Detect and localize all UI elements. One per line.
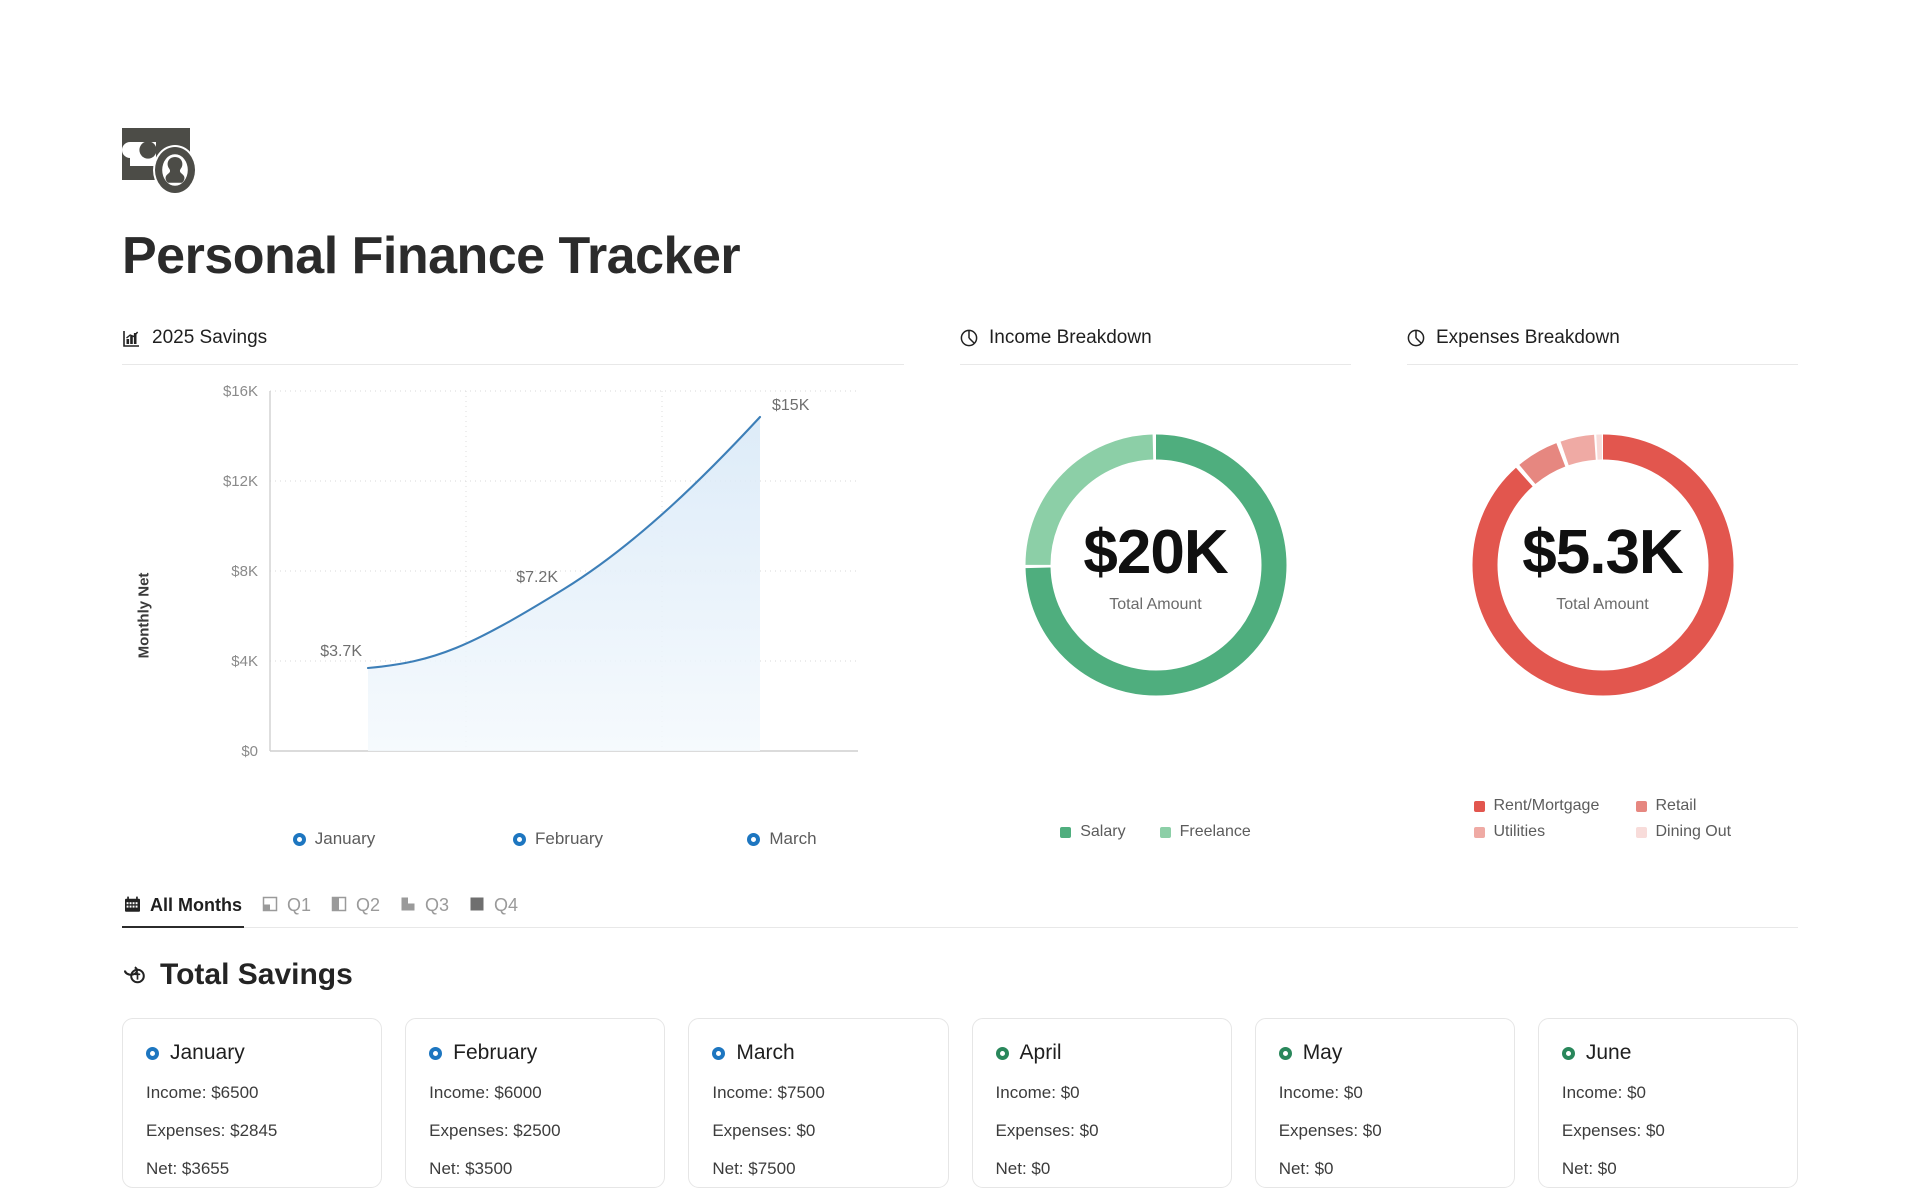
month-income-value: $0 <box>1627 1083 1646 1102</box>
panel-title-income: Income Breakdown <box>989 327 1152 349</box>
legend-item[interactable]: Dining Out <box>1636 823 1732 841</box>
month-name: June <box>1586 1041 1632 1065</box>
section-header-total-savings: Total Savings <box>122 958 1798 992</box>
month-cards-grid: January Income: $6500 Expenses: $2845 Ne… <box>122 1018 1798 1188</box>
month-name: March <box>736 1041 794 1065</box>
series-marker-icon <box>747 833 760 846</box>
month-marker-icon <box>1279 1047 1292 1060</box>
expenses-donut-svg[interactable] <box>1465 427 1741 703</box>
page-title: Personal Finance Tracker <box>122 228 1798 285</box>
legend-label: Salary <box>1080 823 1125 841</box>
legend-label: Rent/Mortgage <box>1494 797 1600 815</box>
month-expenses-line: Expenses: $2845 <box>146 1121 358 1141</box>
svg-text:$8K: $8K <box>231 563 258 580</box>
month-net-line: Net: $0 <box>1279 1159 1491 1179</box>
month-net-value: $3655 <box>182 1159 229 1178</box>
expenses-legend: Rent/Mortgage Retail Utilities Dining Ou… <box>1458 797 1748 841</box>
month-net-line: Net: $0 <box>996 1159 1208 1179</box>
legend-swatch-icon <box>1474 801 1485 812</box>
month-income-line: Income: $0 <box>996 1083 1208 1103</box>
legend-swatch-icon <box>1160 827 1171 838</box>
month-card-january[interactable]: January Income: $6500 Expenses: $2845 Ne… <box>122 1018 382 1188</box>
tab-q1[interactable]: Q1 <box>260 895 329 927</box>
legend-item[interactable]: Retail <box>1636 797 1732 815</box>
month-net-value: $3500 <box>465 1159 512 1178</box>
month-expenses-value: $0 <box>1080 1121 1099 1140</box>
period-tabs: All Months Q1 Q2 <box>122 895 1798 928</box>
month-net-line: Net: $3500 <box>429 1159 641 1179</box>
calendar-icon <box>124 896 141 916</box>
savings-area-chart: Monthly Net $16K $12K $8K $4K $0 <box>122 379 904 849</box>
panel-2025-savings: 2025 Savings Monthly Net $16K $12K $8K <box>122 327 904 849</box>
month-net-line: Net: $7500 <box>712 1159 924 1179</box>
month-net-value: $0 <box>1031 1159 1050 1178</box>
income-donut-svg[interactable] <box>1018 427 1294 703</box>
tab-label: Q4 <box>494 895 518 916</box>
chart-svg: $16K $12K $8K $4K $0 <box>170 379 860 809</box>
month-income-line: Income: $0 <box>1279 1083 1491 1103</box>
month-name: May <box>1303 1041 1343 1065</box>
month-net-value: $0 <box>1315 1159 1334 1178</box>
month-card-header: June <box>1562 1041 1774 1065</box>
svg-text:$16K: $16K <box>223 383 258 400</box>
tab-label: Q3 <box>425 895 449 916</box>
month-expenses-line: Expenses: $0 <box>1562 1121 1774 1141</box>
panel-header-savings: 2025 Savings <box>122 327 904 365</box>
month-name: April <box>1020 1041 1062 1065</box>
tab-q2[interactable]: Q2 <box>329 895 398 927</box>
month-income-value: $0 <box>1061 1083 1080 1102</box>
quarter-1-icon <box>262 896 278 915</box>
month-net-value: $0 <box>1598 1159 1617 1178</box>
svg-text:$3.7K: $3.7K <box>320 643 362 660</box>
income-donut-chart: $20K Total Amount Salary Freelance <box>960 379 1351 849</box>
month-income-value: $7500 <box>778 1083 825 1102</box>
month-expenses-line: Expenses: $0 <box>712 1121 924 1141</box>
month-marker-icon <box>996 1047 1009 1060</box>
income-legend: Salary Freelance <box>960 823 1351 841</box>
legend-swatch-icon <box>1636 827 1647 838</box>
tab-all-months[interactable]: All Months <box>122 895 260 927</box>
month-card-march[interactable]: March Income: $7500 Expenses: $0 Net: $7… <box>688 1018 948 1188</box>
month-marker-icon <box>429 1047 442 1060</box>
month-marker-icon <box>712 1047 725 1060</box>
month-expenses-value: $2845 <box>230 1121 277 1140</box>
month-income-line: Income: $6500 <box>146 1083 358 1103</box>
month-expenses-value: $0 <box>1646 1121 1665 1140</box>
quarter-3-icon <box>400 896 416 915</box>
coins-icon <box>122 963 148 987</box>
panel-header-expenses: Expenses Breakdown <box>1407 327 1798 365</box>
month-card-may[interactable]: May Income: $0 Expenses: $0 Net: $0 <box>1255 1018 1515 1188</box>
month-card-april[interactable]: April Income: $0 Expenses: $0 Net: $0 <box>972 1018 1232 1188</box>
x-legend-item[interactable]: March <box>670 829 894 849</box>
panel-income-breakdown: Income Breakdown $20K Total Amount <box>960 327 1351 849</box>
y-axis-label: Monthly Net <box>136 573 153 659</box>
legend-item[interactable]: Utilities <box>1474 823 1602 841</box>
pie-chart-icon <box>1407 329 1425 347</box>
legend-swatch-icon <box>1060 827 1071 838</box>
panel-expenses-breakdown: Expenses Breakdown $5.3K <box>1407 327 1798 849</box>
svg-text:$4K: $4K <box>231 653 258 670</box>
month-card-header: March <box>712 1041 924 1065</box>
quarter-2-icon <box>331 896 347 915</box>
donut-holder: $20K Total Amount <box>1018 427 1294 708</box>
month-income-line: Income: $6000 <box>429 1083 641 1103</box>
donut-holder: $5.3K Total Amount <box>1465 427 1741 708</box>
section-title: Total Savings <box>160 958 353 992</box>
legend-item[interactable]: Freelance <box>1160 823 1251 841</box>
month-card-header: April <box>996 1041 1208 1065</box>
x-legend-label: January <box>315 829 375 849</box>
month-expenses-value: $2500 <box>513 1121 560 1140</box>
month-income-line: Income: $7500 <box>712 1083 924 1103</box>
svg-text:$0: $0 <box>241 743 258 760</box>
panel-title-expenses: Expenses Breakdown <box>1436 327 1620 349</box>
panel-title-savings: 2025 Savings <box>152 327 267 349</box>
money-with-face-icon <box>122 128 226 202</box>
series-marker-icon <box>513 833 526 846</box>
tab-q4[interactable]: Q4 <box>467 895 536 927</box>
month-expenses-value: $0 <box>1363 1121 1382 1140</box>
month-income-value: $6500 <box>211 1083 258 1102</box>
tab-label: Q2 <box>356 895 380 916</box>
month-card-header: February <box>429 1041 641 1065</box>
month-income-line: Income: $0 <box>1562 1083 1774 1103</box>
expenses-donut-chart: $5.3K Total Amount Rent/Mortgage Retail <box>1407 379 1798 849</box>
panel-header-income: Income Breakdown <box>960 327 1351 365</box>
svg-text:$15K: $15K <box>772 397 810 414</box>
month-net-value: $7500 <box>748 1159 795 1178</box>
month-income-value: $6000 <box>494 1083 541 1102</box>
x-legend-label: February <box>535 829 603 849</box>
svg-text:$12K: $12K <box>223 473 258 490</box>
month-net-line: Net: $3655 <box>146 1159 358 1179</box>
quarter-4-icon <box>469 896 485 915</box>
legend-label: Dining Out <box>1656 823 1732 841</box>
month-name: January <box>170 1041 245 1065</box>
month-card-header: January <box>146 1041 358 1065</box>
month-marker-icon <box>1562 1047 1575 1060</box>
svg-text:$7.2K: $7.2K <box>516 569 558 586</box>
legend-swatch-icon <box>1474 827 1485 838</box>
legend-item[interactable]: Rent/Mortgage <box>1474 797 1602 815</box>
month-card-february[interactable]: February Income: $6000 Expenses: $2500 N… <box>405 1018 665 1188</box>
month-net-line: Net: $0 <box>1562 1159 1774 1179</box>
legend-swatch-icon <box>1636 801 1647 812</box>
chart-x-legend: January February March <box>222 829 894 849</box>
month-name: February <box>453 1041 537 1065</box>
month-expenses-line: Expenses: $0 <box>996 1121 1208 1141</box>
month-marker-icon <box>146 1047 159 1060</box>
legend-label: Retail <box>1656 797 1697 815</box>
month-expenses-line: Expenses: $2500 <box>429 1121 641 1141</box>
month-income-value: $0 <box>1344 1083 1363 1102</box>
legend-label: Freelance <box>1180 823 1251 841</box>
x-legend-label: March <box>769 829 816 849</box>
x-legend-item[interactable]: February <box>446 829 670 849</box>
month-card-june[interactable]: June Income: $0 Expenses: $0 Net: $0 <box>1538 1018 1798 1188</box>
pie-chart-icon <box>960 329 978 347</box>
legend-item[interactable]: Salary <box>1060 823 1125 841</box>
tab-label: All Months <box>150 895 242 916</box>
x-legend-item[interactable]: January <box>222 829 446 849</box>
legend-label: Utilities <box>1494 823 1546 841</box>
month-expenses-line: Expenses: $0 <box>1279 1121 1491 1141</box>
bar-chart-icon <box>122 329 141 348</box>
tab-label: Q1 <box>287 895 311 916</box>
dashboard-panels: 2025 Savings Monthly Net $16K $12K $8K <box>122 327 1798 849</box>
month-expenses-value: $0 <box>796 1121 815 1140</box>
page-root: Personal Finance Tracker 2025 Savings M <box>0 128 1920 1199</box>
month-card-header: May <box>1279 1041 1491 1065</box>
series-marker-icon <box>293 833 306 846</box>
tab-q3[interactable]: Q3 <box>398 895 467 927</box>
